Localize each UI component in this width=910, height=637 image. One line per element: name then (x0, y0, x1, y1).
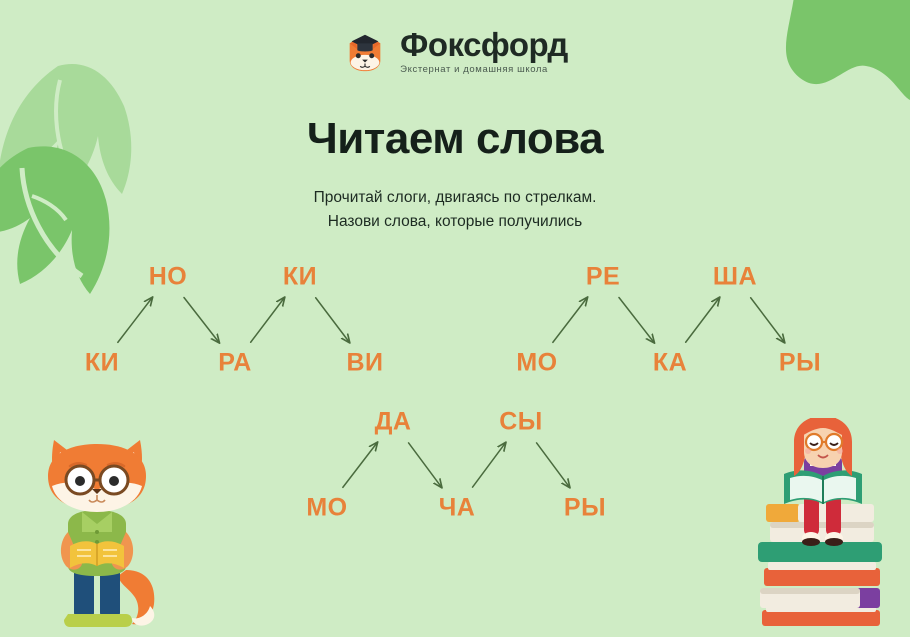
instructions: Прочитай слоги, двигаясь по стрелкам. На… (0, 186, 910, 234)
syllable-arrow (343, 443, 377, 488)
syllable[interactable]: РА (218, 351, 252, 376)
syllable[interactable]: ВИ (346, 351, 383, 376)
fox-graduate-icon (342, 28, 388, 74)
puzzle-bottom: МОДАЧАСЫРЫ (285, 400, 635, 540)
syllable-arrow (251, 298, 285, 343)
brand-logo[interactable]: Фоксфорд Экстернат и домашняя школа (0, 28, 910, 75)
puzzle-left: КИНОРАКИВИ (60, 255, 410, 395)
syllable[interactable]: КИ (283, 265, 317, 290)
syllable-arrow (316, 298, 350, 343)
syllable-arrow (619, 298, 654, 343)
logo-tagline: Экстернат и домашняя школа (400, 65, 548, 75)
syllable[interactable]: ДА (375, 410, 412, 435)
syllable-arrow (686, 298, 720, 343)
worksheet-page: Фоксфорд Экстернат и домашняя школа Чита… (0, 0, 910, 637)
logo-text: Фоксфорд Экстернат и домашняя школа (400, 28, 568, 75)
syllable[interactable]: РЕ (586, 265, 620, 290)
syllable-arrow (751, 298, 785, 343)
syllable[interactable]: МО (516, 351, 557, 376)
syllable[interactable]: КА (653, 351, 687, 376)
girl-illustration-svg (748, 418, 898, 637)
puzzle-right: МОРЕКАШАРЫ (495, 255, 845, 395)
syllable-arrow (553, 298, 587, 343)
syllable[interactable]: СЫ (499, 410, 543, 435)
syllable[interactable]: МО (306, 496, 347, 521)
fox-illustration-svg (22, 420, 172, 635)
page-title: Читаем слова (0, 115, 910, 163)
syllable-arrow (537, 443, 570, 487)
syllable-arrow (184, 298, 219, 343)
syllable[interactable]: ША (713, 265, 757, 290)
syllable[interactable]: РЫ (564, 496, 606, 521)
logo-wordmark: Фоксфорд (400, 28, 568, 61)
instructions-line-2: Назови слова, которые получились (0, 210, 910, 234)
syllable-arrow (473, 443, 506, 487)
syllable[interactable]: КИ (85, 351, 119, 376)
syllable[interactable]: ЧА (439, 496, 476, 521)
girl-reading-on-books-illustration (748, 418, 898, 637)
syllable-arrow (409, 443, 442, 487)
instructions-line-1: Прочитай слоги, двигаясь по стрелкам. (0, 186, 910, 210)
fox-reading-book-illustration (22, 420, 172, 635)
syllable-arrow (118, 298, 152, 343)
book-stack (758, 504, 882, 626)
syllable[interactable]: РЫ (779, 351, 821, 376)
syllable[interactable]: НО (149, 265, 188, 290)
